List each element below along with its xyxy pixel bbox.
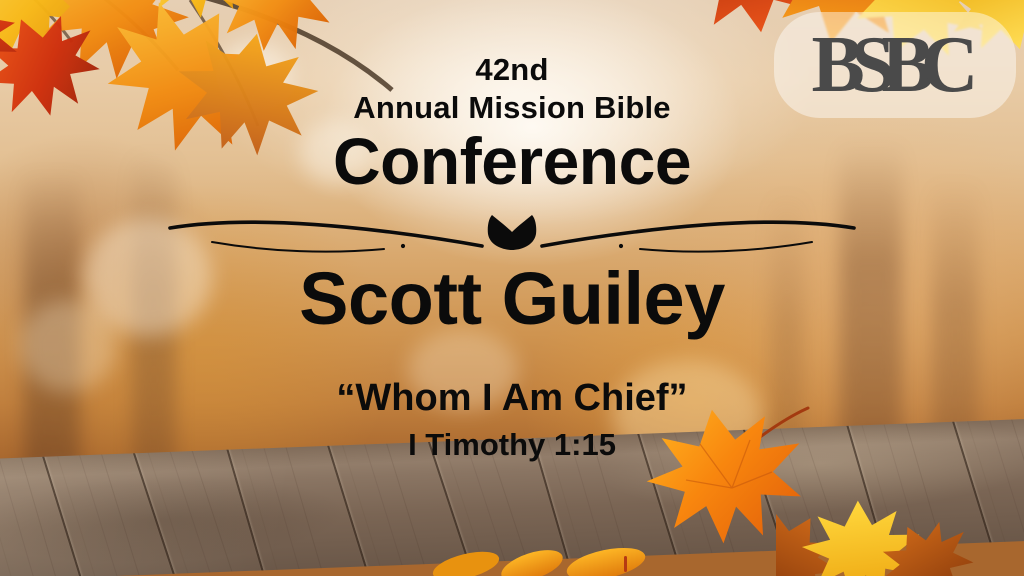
leaf-svg bbox=[414, 538, 534, 576]
deck-leaf-cluster-right bbox=[776, 490, 1024, 576]
speaker-name: Scott Guiley bbox=[0, 262, 1024, 336]
conference-ordinal: 42nd bbox=[0, 52, 1024, 88]
leaves-svg bbox=[776, 490, 1024, 576]
deck-leaf-small-left bbox=[414, 538, 534, 576]
conference-title: Conference bbox=[0, 128, 1024, 194]
conference-announcement-slide: (function(){ var deck = document.current… bbox=[0, 0, 1024, 576]
scripture-reference: I Timothy 1:15 bbox=[0, 428, 1024, 462]
sermon-title: “Whom I Am Chief” bbox=[0, 378, 1024, 420]
ornamental-flourish-divider bbox=[160, 202, 864, 262]
flourish-svg bbox=[160, 202, 864, 262]
leaf-ornament-icon bbox=[488, 215, 537, 250]
conference-subtitle: Annual Mission Bible bbox=[0, 90, 1024, 126]
